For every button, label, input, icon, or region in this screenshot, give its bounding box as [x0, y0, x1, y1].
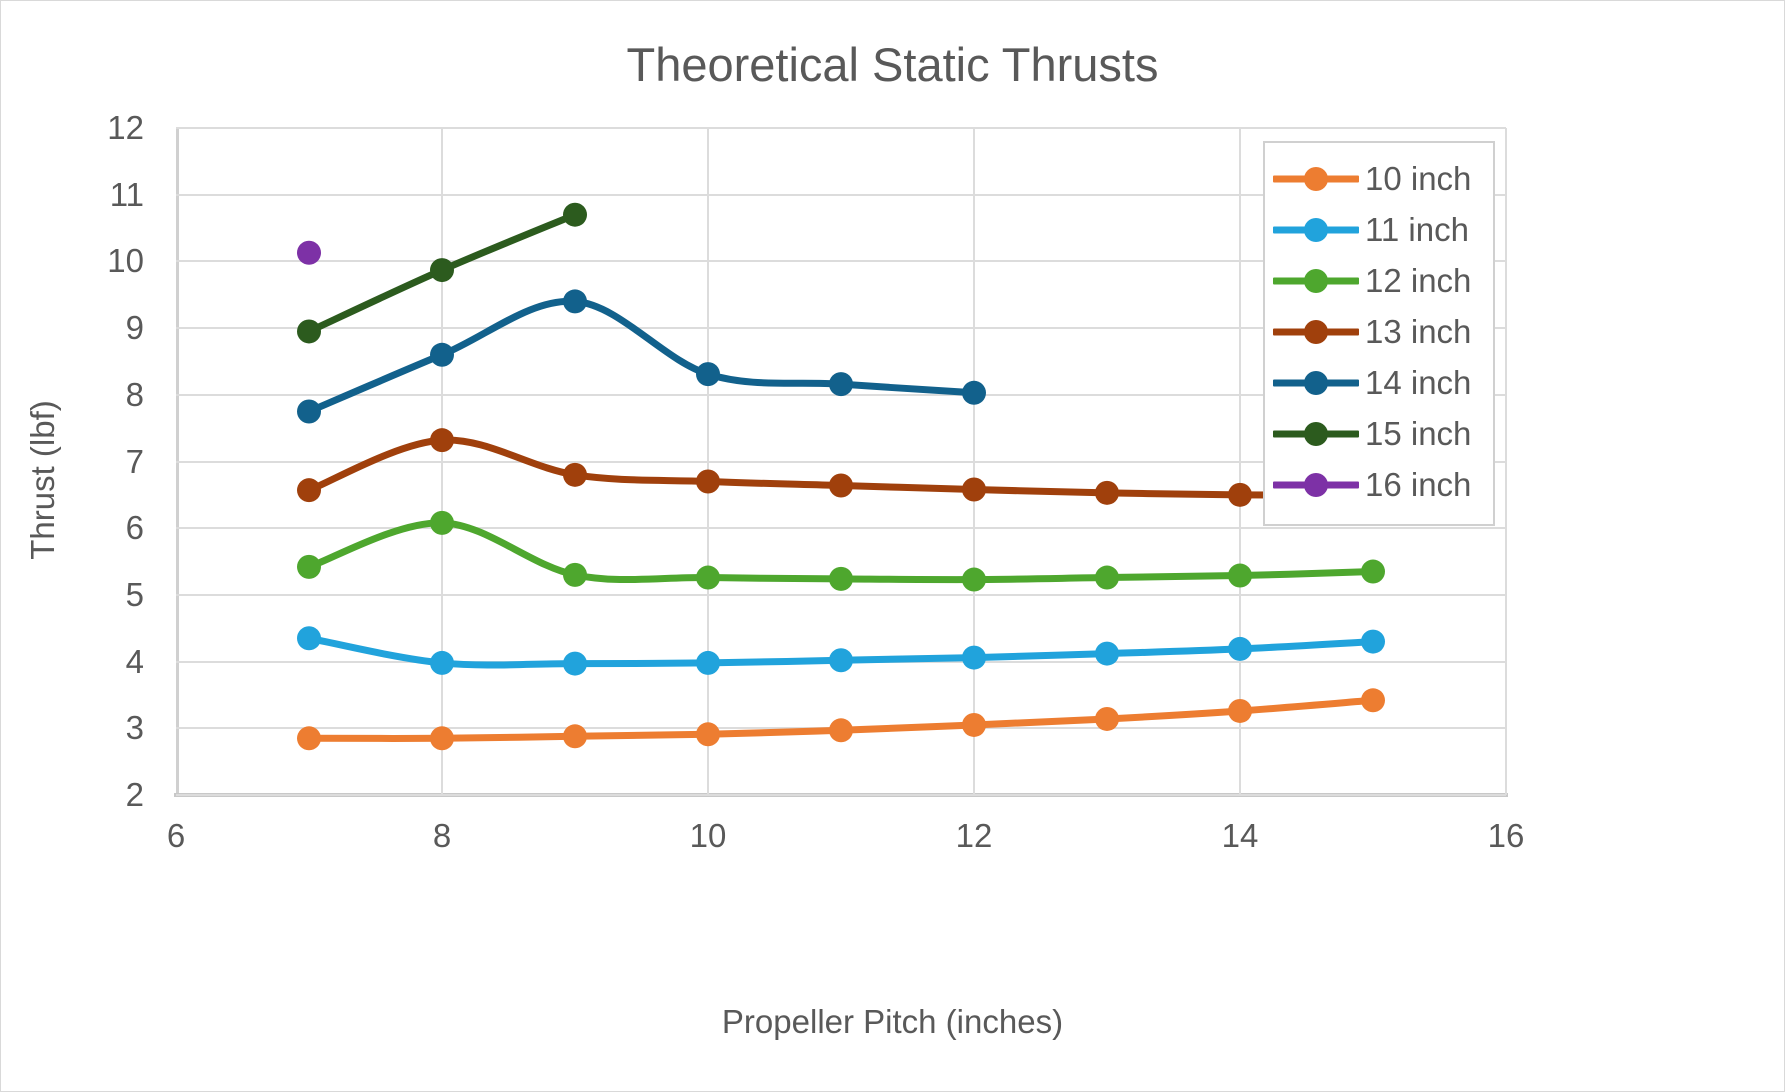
data-point-marker: [962, 713, 986, 737]
data-point-marker: [962, 381, 986, 405]
data-point-marker: [297, 726, 321, 750]
data-point-marker: [1361, 560, 1385, 584]
data-point-marker: [563, 724, 587, 748]
legend-item-14-inch[interactable]: 14 inch: [1265, 357, 1493, 408]
legend-swatch-icon: [1273, 217, 1359, 243]
data-point-marker: [430, 511, 454, 535]
y-tick-label: 4: [24, 643, 144, 681]
legend-marker-dot: [1304, 320, 1328, 344]
y-tick-label: 12: [24, 109, 144, 147]
series-14-inch: [297, 289, 986, 423]
data-point-marker: [829, 648, 853, 672]
legend-swatch-icon: [1273, 472, 1359, 498]
legend-marker-dot: [1304, 473, 1328, 497]
x-tick-label: 12: [924, 817, 1024, 855]
y-tick-label: 9: [24, 309, 144, 347]
series-15-inch: [297, 203, 587, 344]
series-line: [309, 301, 974, 411]
data-point-marker: [297, 319, 321, 343]
y-tick-label: 3: [24, 709, 144, 747]
data-point-marker: [430, 428, 454, 452]
legend-marker-dot: [1304, 218, 1328, 242]
legend-swatch-icon: [1273, 166, 1359, 192]
data-point-marker: [297, 399, 321, 423]
data-point-marker: [696, 722, 720, 746]
data-point-marker: [297, 626, 321, 650]
data-point-marker: [696, 651, 720, 675]
data-point-marker: [1361, 688, 1385, 712]
legend-marker-dot: [1304, 269, 1328, 293]
data-point-marker: [297, 241, 321, 265]
data-point-marker: [1095, 707, 1119, 731]
series-12-inch: [297, 511, 1385, 592]
data-point-marker: [563, 463, 587, 487]
chart-container: Theoretical Static Thrusts Thrust (lbf) …: [0, 0, 1785, 1092]
legend-label: 11 inch: [1365, 211, 1469, 249]
legend-label: 16 inch: [1365, 466, 1471, 504]
data-point-marker: [430, 258, 454, 282]
series-16-inch: [297, 241, 321, 265]
legend-item-13-inch[interactable]: 13 inch: [1265, 306, 1493, 357]
legend-marker-dot: [1304, 422, 1328, 446]
data-point-marker: [1095, 566, 1119, 590]
x-tick-label: 10: [658, 817, 758, 855]
series-13-inch: [297, 428, 1385, 507]
data-point-marker: [696, 470, 720, 494]
legend-label: 10 inch: [1365, 160, 1471, 198]
legend-label: 13 inch: [1365, 313, 1471, 351]
data-point-marker: [829, 567, 853, 591]
y-tick-label: 2: [24, 776, 144, 814]
data-point-marker: [829, 474, 853, 498]
data-point-marker: [1095, 642, 1119, 666]
legend-swatch-icon: [1273, 319, 1359, 345]
x-tick-label: 6: [126, 817, 226, 855]
series-11-inch: [297, 626, 1385, 675]
data-point-marker: [297, 555, 321, 579]
data-point-marker: [1361, 630, 1385, 654]
data-point-marker: [1228, 637, 1252, 661]
data-point-marker: [430, 343, 454, 367]
x-tick-label: 14: [1190, 817, 1290, 855]
legend-item-15-inch[interactable]: 15 inch: [1265, 408, 1493, 459]
legend-item-11-inch[interactable]: 11 inch: [1265, 204, 1493, 255]
y-tick-label: 7: [24, 443, 144, 481]
data-point-marker: [430, 651, 454, 675]
data-point-marker: [1228, 564, 1252, 588]
legend-item-12-inch[interactable]: 12 inch: [1265, 255, 1493, 306]
data-point-marker: [1095, 481, 1119, 505]
legend-swatch-icon: [1273, 421, 1359, 447]
data-point-marker: [829, 718, 853, 742]
y-tick-label: 8: [24, 376, 144, 414]
data-point-marker: [563, 289, 587, 313]
data-point-marker: [962, 478, 986, 502]
x-tick-label: 8: [392, 817, 492, 855]
legend-swatch-icon: [1273, 268, 1359, 294]
y-tick-label: 6: [24, 509, 144, 547]
legend-label: 14 inch: [1365, 364, 1471, 402]
data-point-marker: [696, 362, 720, 386]
series-10-inch: [297, 688, 1385, 750]
legend-item-10-inch[interactable]: 10 inch: [1265, 153, 1493, 204]
chart-title: Theoretical Static Thrusts: [1, 37, 1784, 92]
data-point-marker: [1228, 699, 1252, 723]
data-point-marker: [563, 652, 587, 676]
y-tick-label: 5: [24, 576, 144, 614]
data-point-marker: [829, 372, 853, 396]
x-axis-label: Propeller Pitch (inches): [1, 1003, 1784, 1041]
x-tick-label: 16: [1456, 817, 1556, 855]
data-point-marker: [696, 566, 720, 590]
data-point-marker: [1228, 483, 1252, 507]
y-tick-label: 10: [24, 242, 144, 280]
data-point-marker: [297, 478, 321, 502]
y-tick-label: 11: [24, 176, 144, 214]
legend-swatch-icon: [1273, 370, 1359, 396]
data-point-marker: [430, 726, 454, 750]
data-point-marker: [563, 563, 587, 587]
legend-marker-dot: [1304, 371, 1328, 395]
legend-label: 15 inch: [1365, 415, 1471, 453]
data-point-marker: [962, 568, 986, 592]
data-point-marker: [962, 646, 986, 670]
legend-item-16-inch[interactable]: 16 inch: [1265, 459, 1493, 510]
legend-marker-dot: [1304, 167, 1328, 191]
data-point-marker: [563, 203, 587, 227]
legend-label: 12 inch: [1365, 262, 1471, 300]
legend[interactable]: 10 inch11 inch12 inch13 inch14 inch15 in…: [1263, 141, 1495, 526]
